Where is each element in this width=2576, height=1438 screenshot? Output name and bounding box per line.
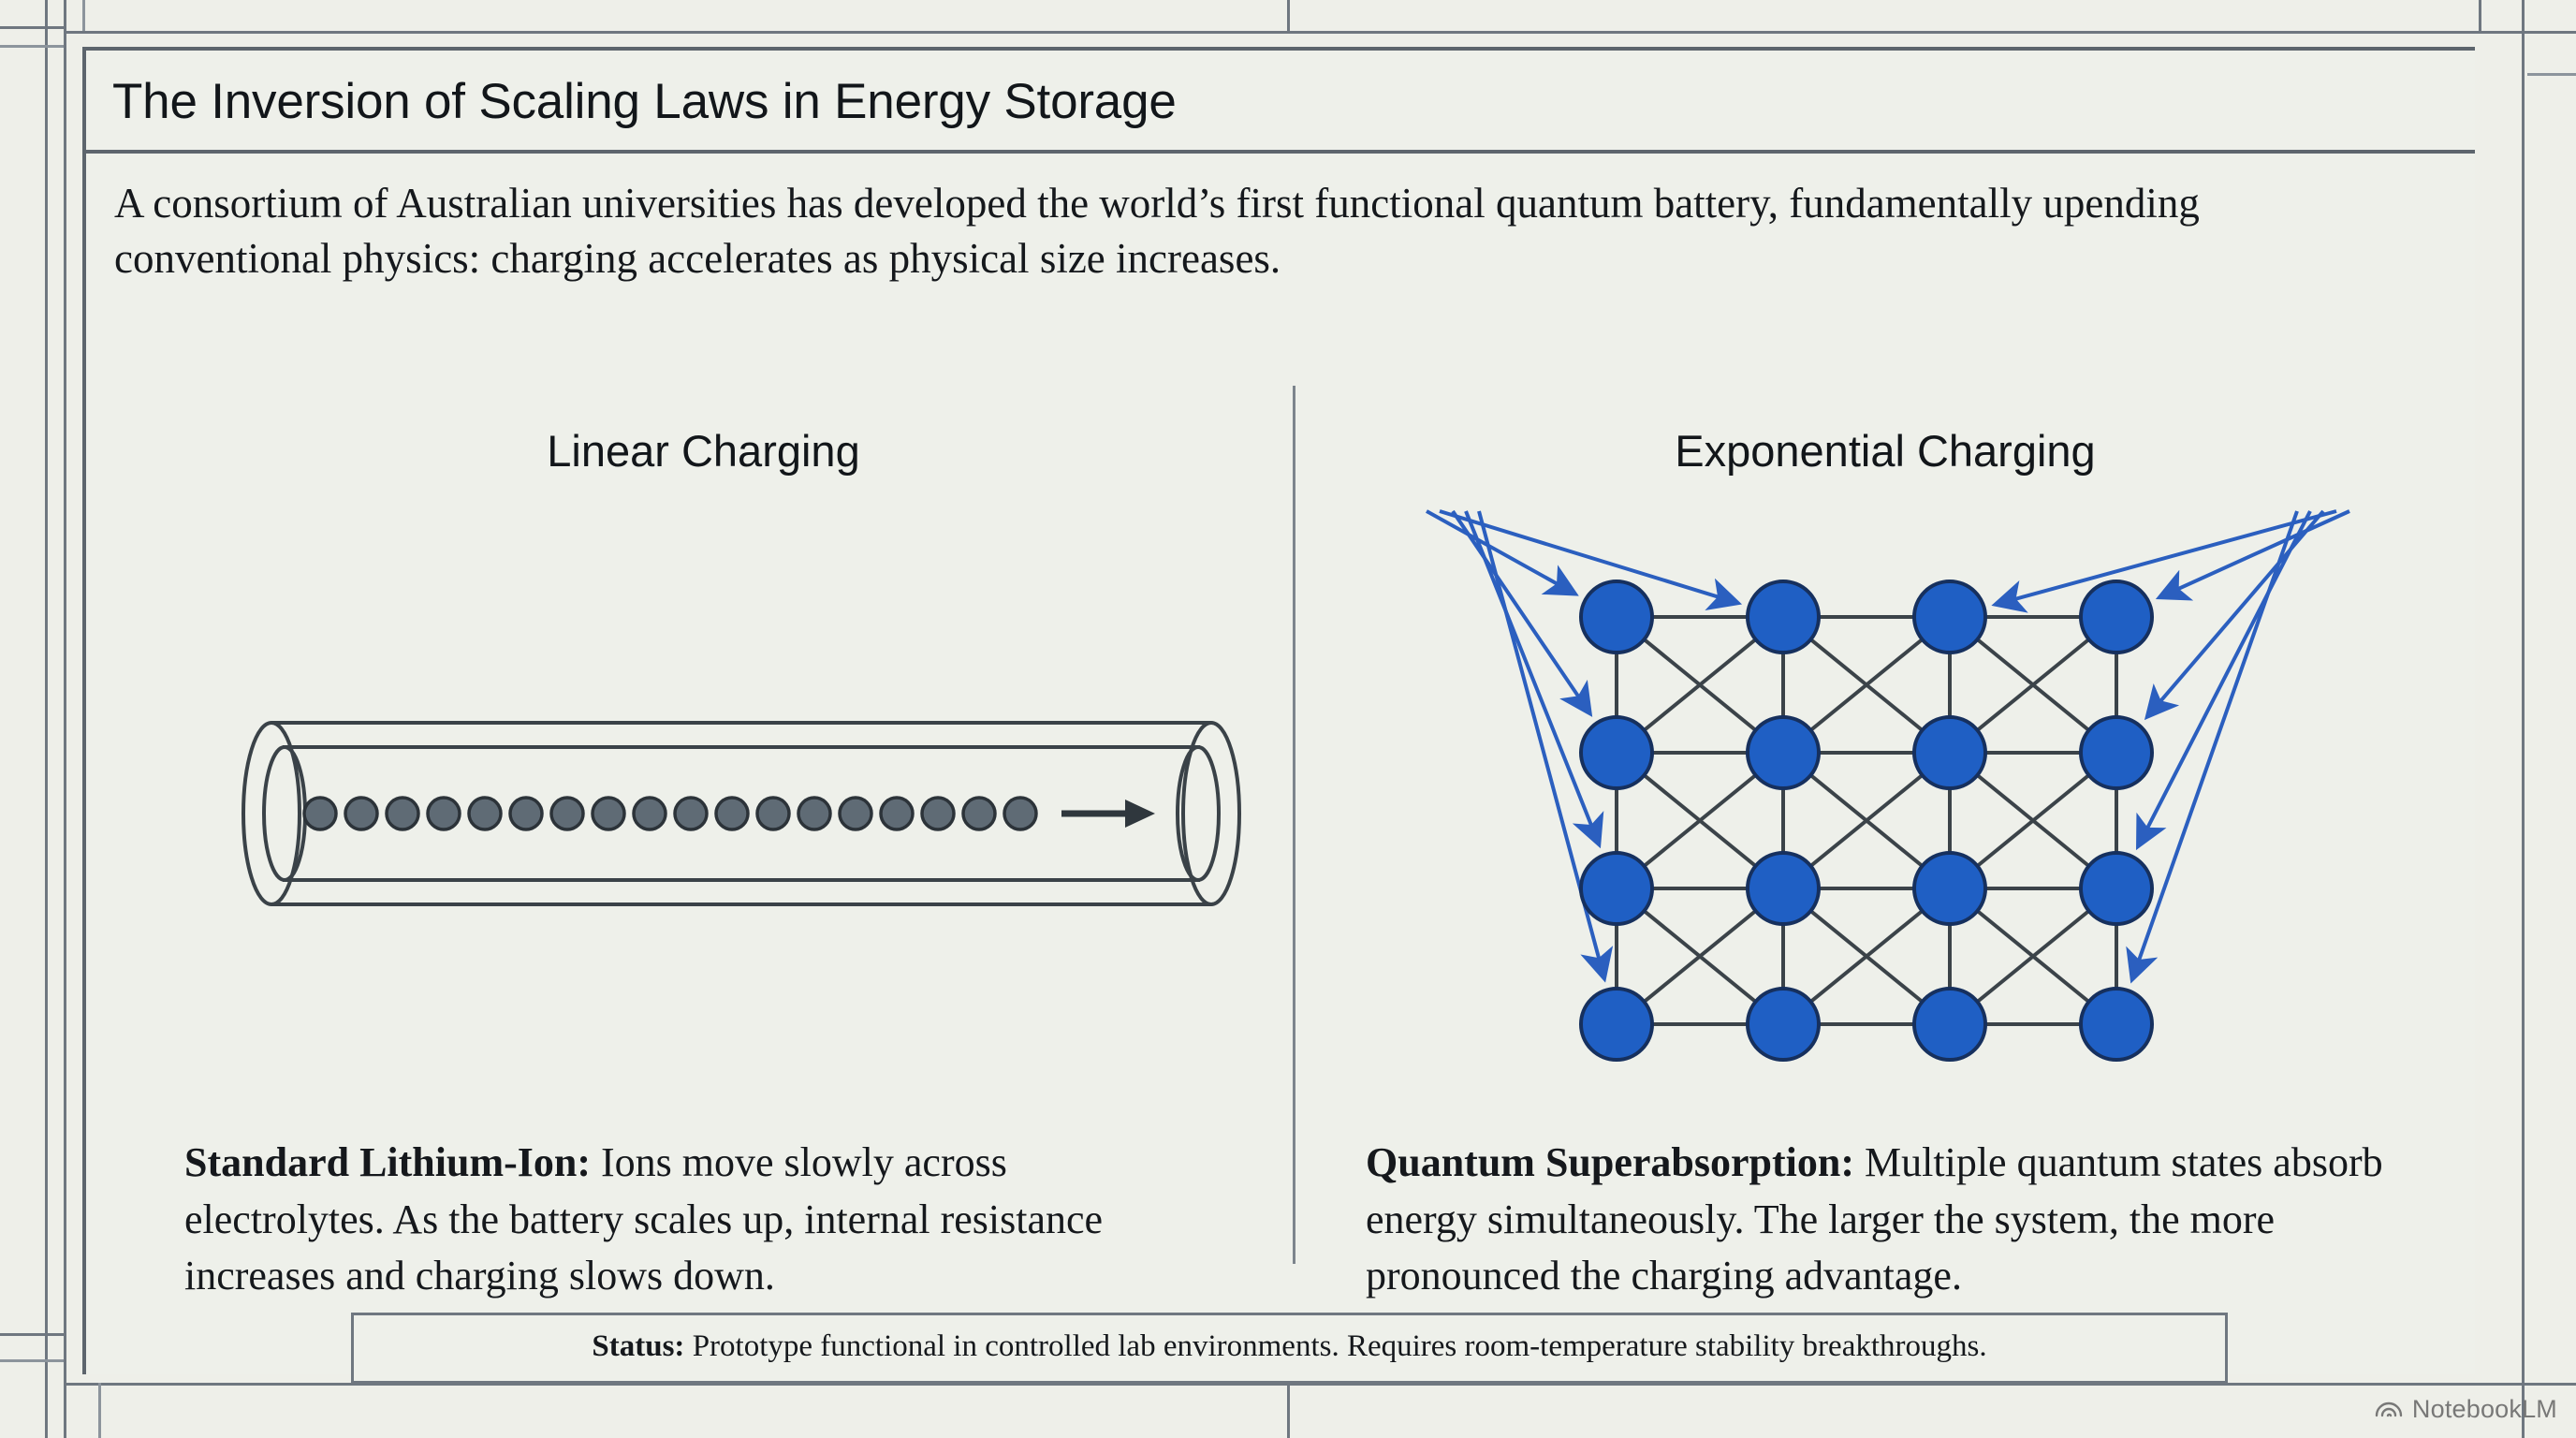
frame-line-top-strip xyxy=(64,31,2576,34)
frame-line-mid-left xyxy=(64,0,66,1438)
slide-canvas: The Inversion of Scaling Laws in Energy … xyxy=(0,0,2576,1438)
quantum-node xyxy=(1748,581,1819,653)
ion-particle xyxy=(840,798,871,829)
page-title: The Inversion of Scaling Laws in Energy … xyxy=(112,73,1177,130)
caption-exponential: Quantum Superabsorption: Multiple quantu… xyxy=(1366,1135,2433,1305)
quantum-node xyxy=(1914,989,1985,1060)
quantum-node xyxy=(1914,581,1985,653)
ion-particle xyxy=(387,798,418,829)
quantum-node xyxy=(2081,581,2152,653)
ion-particle xyxy=(716,798,748,829)
intro-paragraph: A consortium of Australian universities … xyxy=(114,176,2389,287)
linear-charging-diagram xyxy=(227,706,1256,921)
frame-line-outer-right xyxy=(2522,0,2525,1438)
frame-line-top-right-a xyxy=(2522,31,2576,34)
ion-particle xyxy=(469,798,501,829)
quantum-node xyxy=(2081,989,2152,1060)
ion-particle xyxy=(922,798,954,829)
ion-particle xyxy=(304,798,336,829)
quantum-lattice-svg xyxy=(1397,491,2379,1080)
frame-line-top-left-b xyxy=(0,45,64,48)
ion-flow-arrow xyxy=(1061,800,1155,828)
frame-line-bottom-divider xyxy=(1287,1383,1290,1438)
ion-row xyxy=(304,798,1036,829)
lattice-edges xyxy=(1617,617,2116,1024)
ion-particle xyxy=(510,798,542,829)
ion-particle xyxy=(345,798,377,829)
caption-exponential-label: Quantum Superabsorption: xyxy=(1366,1139,1854,1185)
ion-particle xyxy=(963,798,995,829)
quantum-node xyxy=(1581,581,1652,653)
frame-line-top-left-a xyxy=(0,26,64,29)
title-bar: The Inversion of Scaling Laws in Energy … xyxy=(86,51,2475,154)
status-body: Prototype functional in controlled lab e… xyxy=(684,1329,1986,1363)
frame-line-outer-left xyxy=(45,0,48,1438)
frame-line-bottom-left-b xyxy=(0,1359,64,1362)
notebooklm-spiral-icon xyxy=(2375,1394,2403,1425)
frame-line-top-divider xyxy=(1287,0,1290,31)
caption-linear: Standard Lithium-Ion: Ions move slowly a… xyxy=(184,1135,1177,1305)
quantum-node xyxy=(1581,853,1652,924)
exponential-charging-diagram xyxy=(1397,491,2379,1080)
status-label: Status: xyxy=(592,1329,684,1363)
frame-line-mid-right xyxy=(2479,0,2481,34)
cylinder-ion-channel-svg xyxy=(227,706,1256,921)
ion-particle xyxy=(675,798,707,829)
energy-arrow xyxy=(1453,511,1588,711)
status-text: Status: Prototype functional in controll… xyxy=(354,1329,2225,1364)
column-divider xyxy=(1293,386,1295,1264)
energy-arrow xyxy=(2162,511,2349,596)
frame-line-inner-left-bottom xyxy=(98,1383,101,1438)
quantum-node xyxy=(1748,853,1819,924)
ion-particle xyxy=(798,798,830,829)
energy-arrow xyxy=(2140,511,2310,844)
quantum-node xyxy=(1914,853,1985,924)
incoming-energy-arrows xyxy=(1427,511,2349,976)
ion-particle xyxy=(551,798,583,829)
ion-particle xyxy=(428,798,460,829)
ion-particle xyxy=(1004,798,1036,829)
frame-line-bottom-left-a xyxy=(0,1333,64,1336)
status-box: Status: Prototype functional in controll… xyxy=(351,1313,2228,1384)
quantum-node xyxy=(1748,989,1819,1060)
quantum-node xyxy=(1914,717,1985,788)
caption-linear-label: Standard Lithium-Ion: xyxy=(184,1139,591,1185)
notebooklm-label: NotebookLM xyxy=(2412,1395,2557,1424)
quantum-node xyxy=(2081,717,2152,788)
ion-particle xyxy=(593,798,624,829)
energy-arrow xyxy=(1466,511,1598,842)
notebooklm-watermark: NotebookLM xyxy=(2375,1394,2557,1425)
quantum-node xyxy=(2081,853,2152,924)
frame-line-top-right-b xyxy=(2527,73,2576,76)
quantum-node xyxy=(1581,717,1652,788)
ion-particle xyxy=(881,798,913,829)
quantum-node xyxy=(1581,989,1652,1060)
quantum-node xyxy=(1748,717,1819,788)
ion-particle xyxy=(634,798,666,829)
energy-arrow xyxy=(2133,511,2297,976)
column-heading-linear: Linear Charging xyxy=(114,425,1293,477)
column-heading-exponential: Exponential Charging xyxy=(1295,425,2475,477)
ion-particle xyxy=(757,798,789,829)
slide-card: The Inversion of Scaling Laws in Energy … xyxy=(82,47,2475,1374)
frame-line-inner-left xyxy=(82,0,85,34)
